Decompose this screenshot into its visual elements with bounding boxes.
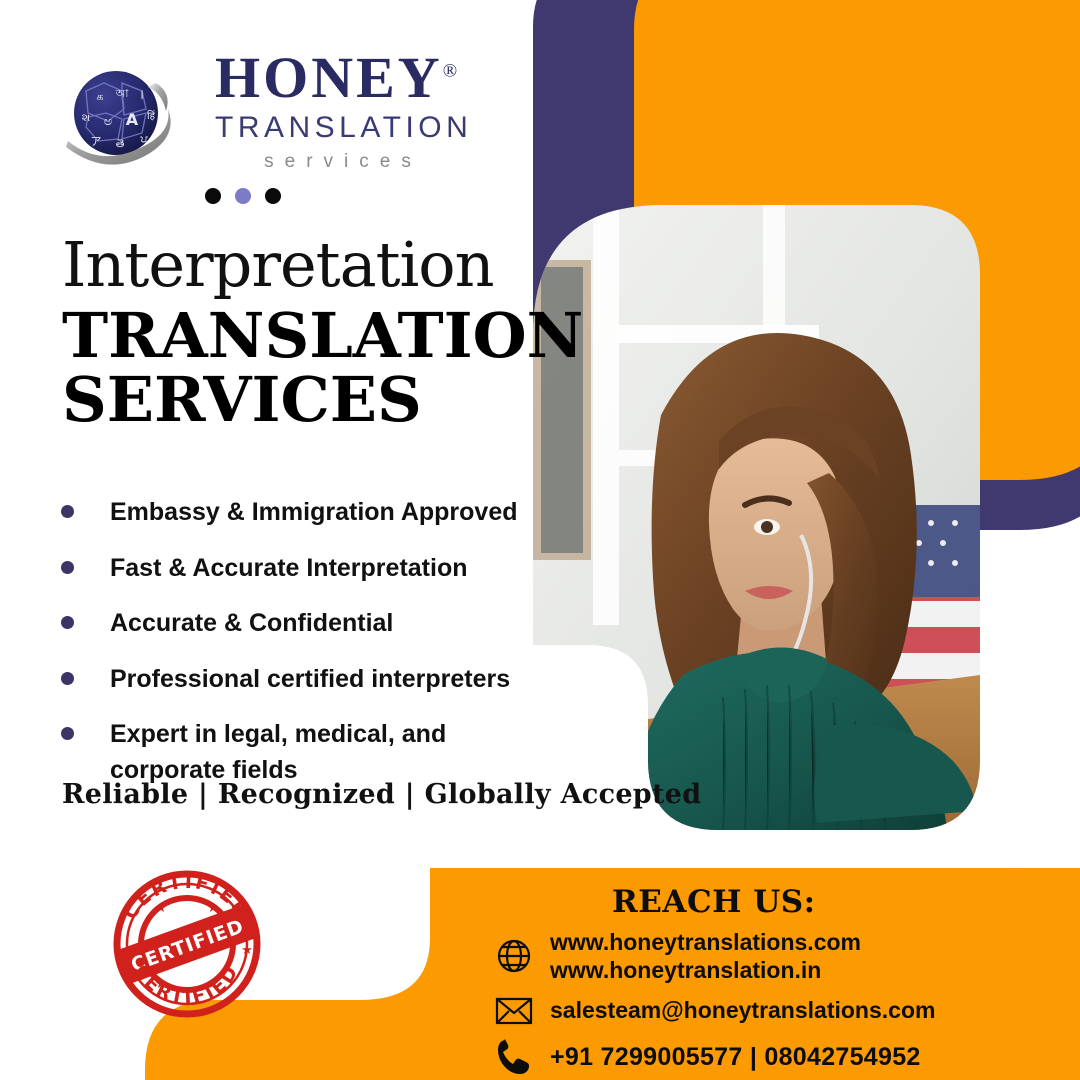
svg-text:★: ★ bbox=[207, 977, 219, 992]
phone-numbers[interactable]: +91 7299005577 | 08042754952 bbox=[550, 1042, 921, 1072]
reach-us-heading: REACH US: bbox=[612, 884, 816, 920]
svg-text:हिं: हिं bbox=[147, 110, 156, 122]
website-urls[interactable]: www.honeytranslations.com www.honeytrans… bbox=[550, 928, 861, 984]
svg-text:★: ★ bbox=[207, 901, 219, 916]
svg-text:A: A bbox=[126, 110, 139, 129]
list-item: Expert in legal, medical, and corporate … bbox=[55, 717, 575, 788]
feature-label: Expert in legal, medical, and corporate … bbox=[110, 717, 480, 788]
headline-script: Interpretation bbox=[62, 232, 532, 297]
list-item: Embassy & Immigration Approved bbox=[55, 495, 575, 531]
email-address[interactable]: salesteam@honeytranslations.com bbox=[550, 997, 935, 1025]
svg-text:আ: আ bbox=[115, 87, 129, 100]
brand-name-main: HONEY® bbox=[215, 49, 465, 107]
feature-label: Embassy & Immigration Approved bbox=[110, 495, 518, 531]
svg-text:શ: શ bbox=[82, 111, 91, 124]
bullet-icon bbox=[61, 727, 74, 740]
globe-languages-icon: க আ ا શ ಅ A हिं ア తె ਪ bbox=[56, 55, 174, 173]
svg-text:ا: ا bbox=[140, 89, 143, 102]
headline-bold-2: SERVICES bbox=[62, 365, 532, 434]
feature-list: Embassy & Immigration Approved Fast & Ac… bbox=[55, 495, 575, 808]
headline-bold-1: TRANSLATION bbox=[62, 301, 532, 370]
website-url-1[interactable]: www.honeytranslations.com bbox=[550, 929, 861, 955]
list-item: Professional certified interpreters bbox=[55, 662, 575, 698]
bullet-icon bbox=[61, 616, 74, 629]
svg-text:తె: తె bbox=[116, 137, 125, 150]
svg-text:க: க bbox=[96, 90, 103, 103]
svg-text:★: ★ bbox=[241, 943, 253, 958]
svg-text:★: ★ bbox=[155, 977, 167, 992]
contact-row-website[interactable]: www.honeytranslations.com www.honeytrans… bbox=[492, 928, 1052, 984]
contact-list: www.honeytranslations.com www.honeytrans… bbox=[492, 928, 1052, 1080]
tagline: Reliable | Recognized | Globally Accepte… bbox=[62, 779, 701, 810]
feature-label: Accurate & Confidential bbox=[110, 606, 393, 642]
logo-dots bbox=[205, 188, 281, 204]
logo-dot-3 bbox=[265, 188, 281, 204]
contact-row-phone[interactable]: +91 7299005577 | 08042754952 bbox=[492, 1038, 1052, 1076]
list-item: Fast & Accurate Interpretation bbox=[55, 551, 575, 587]
contact-row-email[interactable]: salesteam@honeytranslations.com bbox=[492, 996, 1052, 1026]
globe-icon bbox=[492, 937, 536, 975]
logo-dot-1 bbox=[205, 188, 221, 204]
brand-wordmark: HONEY® TRANSLATION services bbox=[215, 49, 465, 173]
page-title: Interpretation TRANSLATION SERVICES bbox=[62, 232, 532, 434]
brand-name-sub: TRANSLATION bbox=[215, 111, 465, 145]
registered-trademark-icon: ® bbox=[443, 61, 457, 82]
phone-icon bbox=[492, 1038, 536, 1076]
svg-text:★: ★ bbox=[155, 901, 167, 916]
svg-text:ア: ア bbox=[91, 135, 102, 148]
logo-dot-2 bbox=[235, 188, 251, 204]
certified-stamp-icon: CERTIFIED CERTIFIED CERTIFIED ★★ ★★ ★★ bbox=[105, 868, 270, 1020]
svg-text:ਪ: ਪ bbox=[139, 133, 148, 146]
envelope-icon bbox=[492, 996, 536, 1026]
svg-text:★: ★ bbox=[121, 943, 133, 958]
feature-label: Professional certified interpreters bbox=[110, 662, 510, 698]
bullet-icon bbox=[61, 561, 74, 574]
feature-label: Fast & Accurate Interpretation bbox=[110, 551, 467, 587]
bullet-icon bbox=[61, 672, 74, 685]
svg-text:ಅ: ಅ bbox=[104, 114, 113, 129]
brand-name-services: services bbox=[215, 151, 465, 173]
bullet-icon bbox=[61, 505, 74, 518]
poster-canvas: க আ ا શ ಅ A हिं ア తె ਪ HONEY® TRANSLATIO… bbox=[0, 0, 1080, 1080]
website-url-2[interactable]: www.honeytranslation.in bbox=[550, 957, 821, 983]
list-item: Accurate & Confidential bbox=[55, 606, 575, 642]
